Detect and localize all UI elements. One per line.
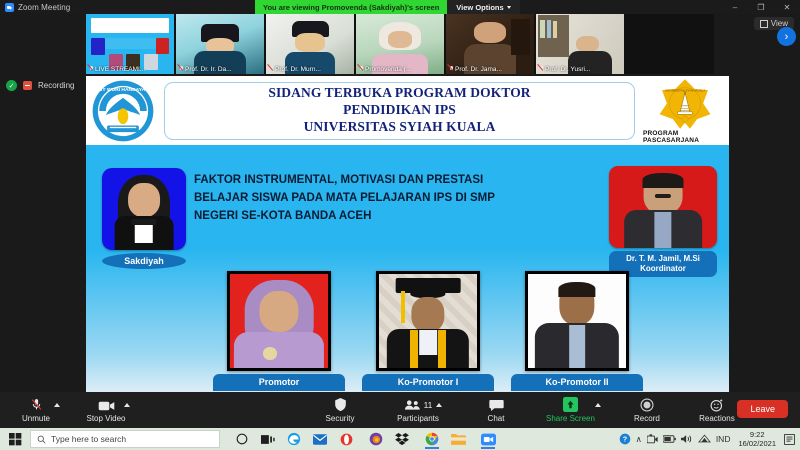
share-message: You are viewing Promovenda (Sakdiyah)'s … [255,0,447,14]
committee-member-ko-promotor-2: Ko-Promotor II [511,271,643,391]
microphone-muted-icon [30,397,43,412]
photo-promotor [230,274,328,368]
windows-start-icon[interactable] [0,428,30,450]
close-button[interactable]: ✕ [774,0,800,14]
shared-screen-area[interactable]: TUT WURI HANDAYANI SIDANG TERBUKA PROGRA… [86,76,729,393]
security-button[interactable]: Security [318,397,362,423]
file-explorer-icon[interactable] [445,428,471,450]
battery-icon[interactable] [663,435,676,443]
thumbnail-participant-2[interactable]: Prof. Dr. Ir. Da... [176,14,264,74]
view-options-button[interactable]: View Options [447,0,519,14]
chevron-up-icon[interactable] [436,403,442,407]
recording-label: Recording [38,81,74,90]
shield-check-icon: ✓ [6,80,17,91]
presentation-slide: TUT WURI HANDAYANI SIDANG TERBUKA PROGRA… [86,76,729,393]
show-hidden-icons-icon[interactable]: ∧ [636,434,642,445]
taskbar-clock[interactable]: 9:22 16/02/2021 [735,430,779,449]
svg-text:?: ? [622,435,626,444]
share-screen-icon [563,397,578,412]
windows-taskbar[interactable]: Type here to search [0,428,800,450]
photo-ko-promotor-1 [379,274,477,368]
chat-label: Chat [488,414,505,423]
thumbnail-name: Prof. Dr. Ir. Da... [176,65,264,75]
reactions-button[interactable]: Reactions [695,397,739,423]
clock-time: 9:22 [738,430,776,439]
promovenda-name-badge: Sakdiyah [102,253,186,269]
photo-frame [376,271,480,371]
participants-count: 11 [424,400,433,410]
thumbnail-name: Prof. Dr. Yusri... [536,65,624,75]
participants-icon: 11 [404,397,433,412]
reactions-smiley-icon [710,397,724,412]
photo-sakdiyah [102,168,186,250]
zoom-toolbar[interactable]: Unmute Stop Video Security [0,392,800,428]
thumbnail-name: LIVE STREAMI... [86,65,174,75]
search-placeholder: Type here to search [51,434,126,444]
slide-title-line-1: SIDANG TERBUKA PROGRAM DOKTOR [268,85,530,102]
zoom-icon[interactable] [475,428,501,450]
committee-member-promotor: Promotor [213,271,345,391]
record-circle-icon [640,397,654,412]
committee-label: Ko-Promotor II [511,374,643,391]
research-title: FAKTOR INSTRUMENTAL, MOTIVASI DAN PRESTA… [194,172,614,225]
research-title-line-2: BELAJAR SISWA PADA MATA PELAJARAN IPS DI… [194,190,614,208]
research-title-line-1: FAKTOR INSTRUMENTAL, MOTIVASI DAN PRESTA… [194,172,614,190]
coordinator-block: Dr. T. M. Jamil, M.Si Koordinator [609,166,717,277]
unmute-button[interactable]: Unmute [14,397,58,423]
chevron-up-icon[interactable] [124,403,130,407]
photo-frame [227,271,331,371]
svg-text:TUT WURI HANDAYANI: TUT WURI HANDAYANI [96,87,151,93]
research-title-line-3: NEGERI SE-KOTA BANDA ACEH [194,208,614,226]
reactions-label: Reactions [699,414,735,423]
slide-title-line-2: PENDIDIKAN IPS [343,102,456,119]
thumbnail-participant-6[interactable]: Prof. Dr. Yusri... [536,14,624,74]
view-options-label: View Options [456,3,503,12]
camera-icon[interactable] [647,434,658,444]
dropbox-icon[interactable] [389,428,415,450]
firefox-icon[interactable] [363,428,389,450]
leave-button[interactable]: Leave [737,400,788,418]
volume-icon[interactable] [681,434,693,444]
recording-indicator-icon[interactable] [23,81,32,90]
photo-ko-promotor-2 [528,274,626,368]
tut-wuri-handayani-logo: TUT WURI HANDAYANI [90,78,156,144]
chevron-down-icon [507,6,511,9]
recording-indicator: ✓ Recording [6,80,74,91]
opera-icon[interactable] [333,428,359,450]
committee-label: Promotor [213,374,345,391]
cortana-icon[interactable] [229,428,255,450]
stop-video-label: Stop Video [87,414,126,423]
record-label: Record [634,414,660,423]
thumbnail-slide-preview[interactable]: LIVE STREAMI... [86,14,174,74]
slide-header: TUT WURI HANDAYANI SIDANG TERBUKA PROGRA… [86,76,729,145]
unmute-label: Unmute [22,414,50,423]
title-bar-left: Zoom Meeting [0,3,70,12]
slide-title-box: SIDANG TERBUKA PROGRAM DOKTOR PENDIDIKAN… [164,82,635,140]
photo-tm-jamil [609,166,717,248]
thumbnail-participant-5[interactable]: Prof. Dr. Jama... [446,14,534,74]
window-controls: – ❐ ✕ [722,0,800,14]
mail-icon[interactable] [307,428,333,450]
promovenda-block: Sakdiyah [102,168,186,269]
chevron-up-icon[interactable] [54,403,60,407]
app-title: Zoom Meeting [18,3,70,12]
slide-title-line-3: UNIVERSITAS SYIAH KUALA [304,119,496,136]
chevron-up-icon[interactable] [595,403,601,407]
coordinator-name: Dr. T. M. Jamil, M.Si [609,254,717,264]
participants-button[interactable]: 11 Participants [396,397,440,423]
committee-member-ko-promotor-1: Ko-Promotor I [362,271,494,391]
stop-video-button[interactable]: Stop Video [84,397,128,423]
search-input[interactable]: Type here to search [30,430,220,448]
participant-thumbnail-strip[interactable]: LIVE STREAMI... Prof. Dr. Ir. Da... Prof… [86,14,714,74]
shield-icon [334,397,347,412]
clock-date: 16/02/2021 [738,439,776,448]
grid-view-icon [760,20,768,28]
maximize-button[interactable]: ❐ [748,0,774,14]
committee-row: Promotor Ko-Promotor [213,271,643,391]
share-screen-label: Share Screen [546,414,595,423]
chat-bubble-icon [489,397,504,412]
share-screen-button[interactable]: Share Screen [546,397,595,423]
notifications-icon[interactable] [784,434,795,445]
thumbnail-name: Prof. Dr. Murn... [266,65,354,75]
search-icon [37,435,46,444]
wifi-icon[interactable] [698,434,711,444]
thumbnail-name: Prof. Dr. Jama... [446,65,534,75]
language-indicator[interactable]: IND [716,434,731,444]
thumbnail-name: Promovenda (... [356,65,444,75]
participants-label: Participants [397,414,439,423]
microsoft-edge-icon[interactable] [281,428,307,450]
minimize-button[interactable]: – [722,0,748,14]
record-button[interactable]: Record [625,397,669,423]
system-tray[interactable]: ? ∧ IND 9:22 16/02/2021 [619,430,800,449]
video-camera-icon [98,397,115,412]
thumbnail-next-page-button[interactable]: › [777,27,796,46]
photo-frame [525,271,629,371]
help-icon[interactable]: ? [619,433,631,445]
unsyiah-logo: UNIVERSITAS SYIAH KUALA PROGRAM PASCASAR… [643,78,727,144]
zoom-logo-icon [5,3,14,12]
unsyiah-logo-caption: PROGRAM PASCASARJANA [643,130,727,144]
thumbnail-participant-4[interactable]: Promovenda (... [356,14,444,74]
security-label: Security [326,414,355,423]
thumbnail-participant-3[interactable]: Prof. Dr. Murn... [266,14,354,74]
google-chrome-icon[interactable] [419,428,445,450]
screen-share-banner: You are viewing Promovenda (Sakdiyah)'s … [255,0,520,14]
chat-button[interactable]: Chat [474,397,518,423]
task-view-icon[interactable] [255,428,281,450]
committee-label: Ko-Promotor I [362,374,494,391]
zoom-title-bar: Zoom Meeting You are viewing Promovenda … [0,0,800,14]
